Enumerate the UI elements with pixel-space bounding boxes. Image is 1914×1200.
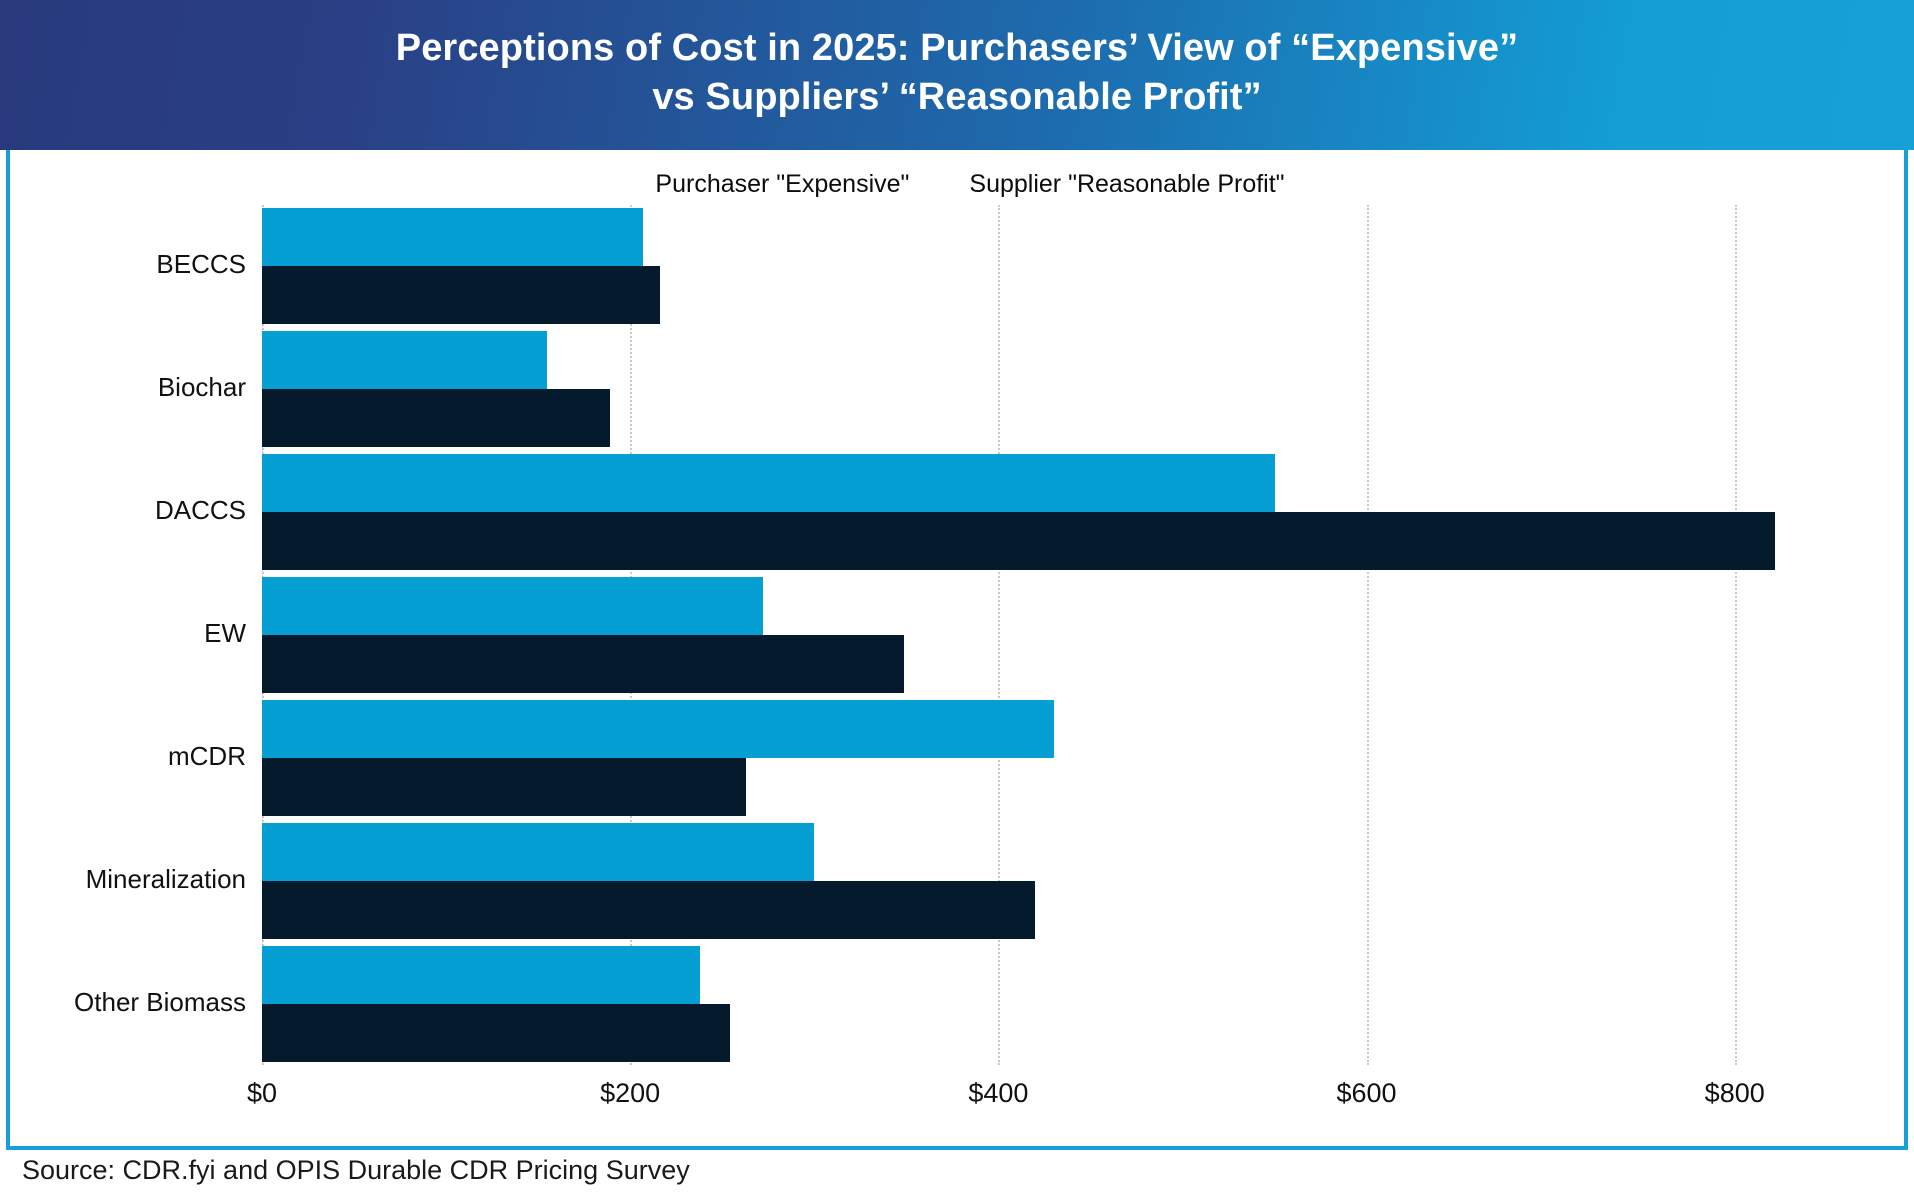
- bar-group: [262, 819, 1882, 942]
- chart-figure: Perceptions of Cost in 2025: Purchasers’…: [0, 0, 1914, 1200]
- category-label-beccs: BECCS: [6, 249, 246, 280]
- bar-group: [262, 205, 1882, 328]
- category-label-ew: EW: [6, 618, 246, 649]
- category-label-mcdr: mCDR: [6, 741, 246, 772]
- bar-group: [262, 696, 1882, 819]
- bar-purchaser[interactable]: [262, 577, 763, 635]
- bar-group: [262, 574, 1882, 697]
- bar-group: [262, 942, 1882, 1065]
- bar-supplier[interactable]: [262, 266, 660, 324]
- category-label-mineralization: Mineralization: [6, 864, 246, 895]
- bar-purchaser[interactable]: [262, 700, 1054, 758]
- source-note: Source: CDR.fyi and OPIS Durable CDR Pri…: [22, 1155, 690, 1186]
- bar-purchaser[interactable]: [262, 208, 643, 266]
- plot-area: [262, 205, 1882, 1065]
- bar-purchaser[interactable]: [262, 823, 814, 881]
- header-banner: Perceptions of Cost in 2025: Purchasers’…: [0, 0, 1914, 150]
- bar-purchaser[interactable]: [262, 946, 700, 1004]
- bar-supplier[interactable]: [262, 758, 746, 816]
- category-label-other-biomass: Other Biomass: [6, 987, 246, 1018]
- category-label-biochar: Biochar: [6, 372, 246, 403]
- bar-supplier[interactable]: [262, 389, 610, 447]
- x-tick-label: $400: [968, 1078, 1028, 1109]
- x-tick-label: $800: [1705, 1078, 1765, 1109]
- x-tick-label: $0: [247, 1078, 277, 1109]
- bar-supplier[interactable]: [262, 1004, 730, 1062]
- bar-group: [262, 328, 1882, 451]
- bar-supplier[interactable]: [262, 635, 904, 693]
- bar-group: [262, 451, 1882, 574]
- bar-supplier[interactable]: [262, 881, 1035, 939]
- bar-supplier[interactable]: [262, 512, 1775, 570]
- bar-purchaser[interactable]: [262, 454, 1275, 512]
- category-label-daccs: DACCS: [6, 495, 246, 526]
- x-tick-label: $600: [1336, 1078, 1396, 1109]
- bar-purchaser[interactable]: [262, 331, 547, 389]
- x-tick-label: $200: [600, 1078, 660, 1109]
- page-title: Perceptions of Cost in 2025: Purchasers’…: [396, 24, 1519, 127]
- x-axis-ticks: $0$200$400$600$800: [262, 1078, 1882, 1118]
- y-axis-labels: BECCSBiocharDACCSEWmCDRMineralizationOth…: [0, 205, 246, 1065]
